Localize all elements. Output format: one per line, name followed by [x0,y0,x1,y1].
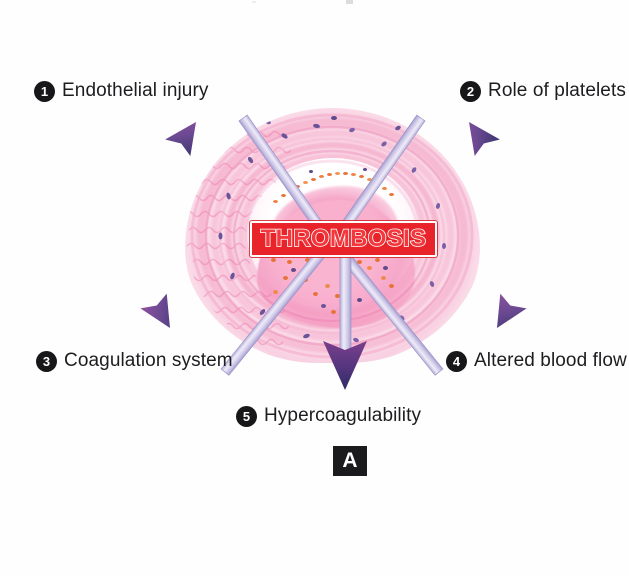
thrombosis-label: THROMBOSIS [261,225,427,253]
label-altered-blood-flow: 4 Altered blood flow [446,350,627,372]
label-coagulation-system: 3 Coagulation system [36,350,233,372]
label-hypercoagulability: 5 Hypercoagulability [236,405,421,427]
panel-letter-badge: A [333,446,367,476]
bullet-3-icon: 3 [36,351,57,372]
label-4-text: Altered blood flow [474,350,627,372]
thrombosis-banner: THROMBOSIS [250,221,437,257]
label-5-text: Hypercoagulability [264,405,421,427]
bullet-4-icon: 4 [446,351,467,372]
bullet-2-icon: 2 [460,81,481,102]
label-1-text: Endothelial injury [62,80,209,102]
label-3-text: Coagulation system [64,350,233,372]
label-role-of-platelets: 2 Role of platelets [460,80,626,102]
label-2-text: Role of platelets [488,80,626,102]
label-endothelial-injury: 1 Endothelial injury [34,80,209,102]
figure-canvas: THROMBOSIS 1 Endothelial injury 2 Role o… [0,0,629,577]
bullet-5-icon: 5 [236,406,257,427]
bullet-1-icon: 1 [34,81,55,102]
panel-letter-text: A [342,449,357,473]
